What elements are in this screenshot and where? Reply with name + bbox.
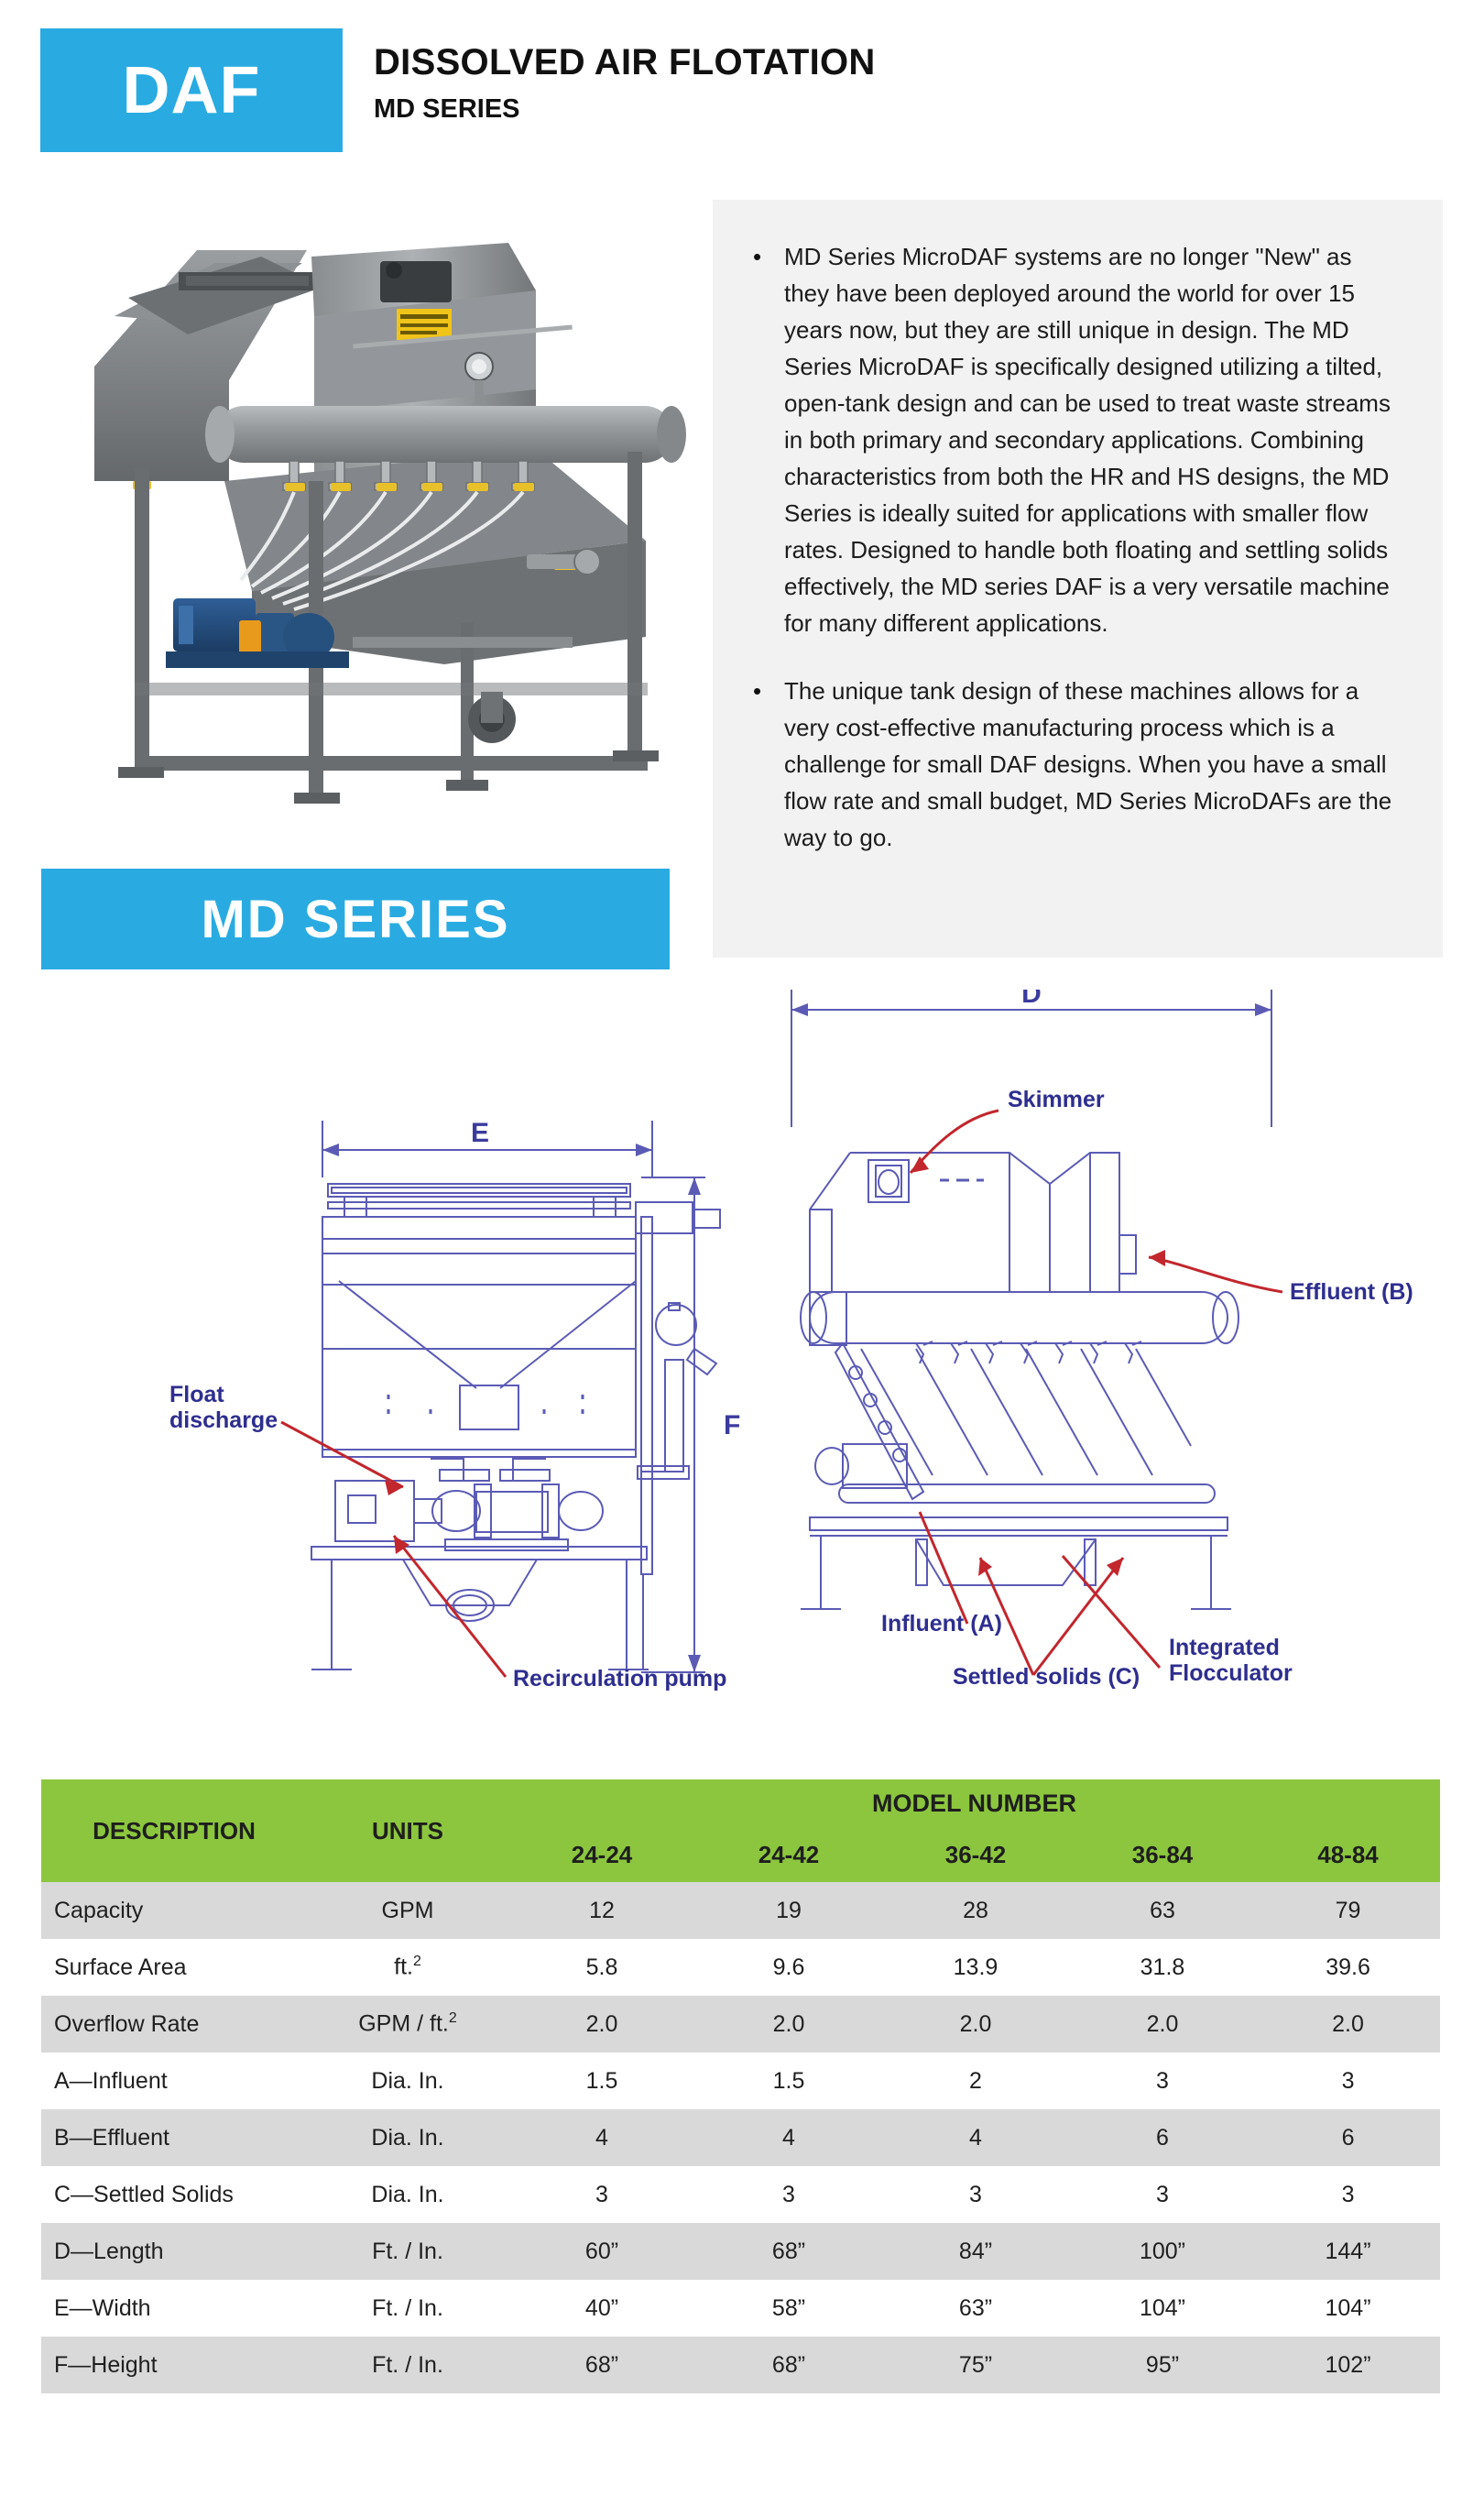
cell-value-model-0: 12 xyxy=(508,1882,695,1939)
col-header-model-4: 48-84 xyxy=(1256,1827,1440,1882)
cell-value-model-1: 19 xyxy=(695,1882,882,1939)
bullet-dot-icon: • xyxy=(753,673,784,856)
title-block: DISSOLVED AIR FLOTATION MD SERIES xyxy=(374,42,876,125)
table-row: F—HeightFt. / In.68”68”75”95”102” xyxy=(41,2337,1440,2393)
cell-units: ft.2 xyxy=(307,1939,508,1996)
dimension-F xyxy=(641,1177,705,1672)
dimension-label-F: F xyxy=(724,1410,740,1440)
cell-description: E—Width xyxy=(41,2280,307,2337)
bullet-item: • MD Series MicroDAF systems are no long… xyxy=(753,238,1402,641)
cell-value-model-2: 84” xyxy=(882,2223,1069,2280)
cell-value-model-1: 1.5 xyxy=(695,2053,882,2109)
cell-value-model-3: 3 xyxy=(1069,2166,1256,2223)
cell-value-model-0: 1.5 xyxy=(508,2053,695,2109)
callout-effluent: Effluent (B) xyxy=(1290,1279,1413,1305)
cell-description: F—Height xyxy=(41,2337,307,2393)
cell-value-model-4: 144” xyxy=(1256,2223,1440,2280)
cell-units: GPM / ft.2 xyxy=(307,1996,508,2053)
cell-value-model-2: 2.0 xyxy=(882,1996,1069,2053)
table-head: DESCRIPTION UNITS MODEL NUMBER 24-24 24-… xyxy=(41,1779,1440,1882)
table-row: CapacityGPM1219286379 xyxy=(41,1882,1440,1939)
cell-units: Ft. / In. xyxy=(307,2280,508,2337)
cell-value-model-3: 100” xyxy=(1069,2223,1256,2280)
page-title: DISSOLVED AIR FLOTATION xyxy=(374,42,876,83)
page-subtitle: MD SERIES xyxy=(374,94,876,125)
md-series-banner: MD SERIES xyxy=(41,869,670,969)
cell-description: C—Settled Solids xyxy=(41,2166,307,2223)
cell-value-model-2: 4 xyxy=(882,2109,1069,2166)
product-photo xyxy=(78,206,710,825)
cell-value-model-2: 28 xyxy=(882,1882,1069,1939)
bullet-dot-icon: • xyxy=(753,238,784,641)
col-header-model-1: 24-42 xyxy=(695,1827,882,1882)
cell-value-model-1: 58” xyxy=(695,2280,882,2337)
table-row: Surface Areaft.25.89.613.931.839.6 xyxy=(41,1939,1440,1996)
cell-value-model-1: 2.0 xyxy=(695,1996,882,2053)
callout-settled-solids: Settled solids (C) xyxy=(953,1664,1140,1690)
dimension-label-E: E xyxy=(471,1118,489,1148)
cell-value-model-1: 3 xyxy=(695,2166,882,2223)
drawings-svg: E F D Float discharge Recirculation pump… xyxy=(0,990,1484,1759)
cell-value-model-2: 2 xyxy=(882,2053,1069,2109)
description-panel: • MD Series MicroDAF systems are no long… xyxy=(713,200,1443,958)
cell-units: Ft. / In. xyxy=(307,2337,508,2393)
cell-description: B—Effluent xyxy=(41,2109,307,2166)
cell-description: A—Influent xyxy=(41,2053,307,2109)
col-header-units: UNITS xyxy=(307,1779,508,1882)
cell-value-model-1: 4 xyxy=(695,2109,882,2166)
daf-logo-badge: DAF xyxy=(40,28,343,152)
callout-skimmer: Skimmer xyxy=(1008,1087,1105,1112)
cell-value-model-4: 3 xyxy=(1256,2166,1440,2223)
cell-value-model-1: 9.6 xyxy=(695,1939,882,1996)
table-header-row-top: DESCRIPTION UNITS MODEL NUMBER xyxy=(41,1779,1440,1827)
cell-value-model-2: 75” xyxy=(882,2337,1069,2393)
callout-float-discharge-line2: discharge xyxy=(169,1407,278,1433)
daf-logo-text: DAF xyxy=(123,53,261,128)
cell-description: D—Length xyxy=(41,2223,307,2280)
product-photo-image xyxy=(78,206,710,825)
callout-float-discharge-line1: Float xyxy=(169,1382,224,1407)
cell-description: Surface Area xyxy=(41,1939,307,1996)
md-series-banner-label: MD SERIES xyxy=(201,889,509,950)
effluent-leader xyxy=(1149,1257,1282,1292)
col-header-model-2: 36-42 xyxy=(882,1827,1069,1882)
cell-value-model-4: 104” xyxy=(1256,2280,1440,2337)
callout-recirculation-pump: Recirculation pump xyxy=(513,1666,726,1691)
cell-value-model-4: 6 xyxy=(1256,2109,1440,2166)
table-row: Overflow RateGPM / ft.22.02.02.02.02.0 xyxy=(41,1996,1440,2053)
col-header-model-3: 36-84 xyxy=(1069,1827,1256,1882)
cell-value-model-0: 68” xyxy=(508,2337,695,2393)
cell-value-model-4: 3 xyxy=(1256,2053,1440,2109)
cell-value-model-2: 13.9 xyxy=(882,1939,1069,1996)
cell-value-model-0: 60” xyxy=(508,2223,695,2280)
cell-units: Dia. In. xyxy=(307,2109,508,2166)
callout-flocculator-line1: Integrated xyxy=(1169,1635,1280,1660)
cell-value-model-3: 104” xyxy=(1069,2280,1256,2337)
cell-units: Dia. In. xyxy=(307,2053,508,2109)
cell-value-model-3: 6 xyxy=(1069,2109,1256,2166)
bullet-item: • The unique tank design of these machin… xyxy=(753,673,1402,856)
table-row: A—InfluentDia. In.1.51.5233 xyxy=(41,2053,1440,2109)
table-body: CapacityGPM1219286379Surface Areaft.25.8… xyxy=(41,1882,1440,2393)
cell-value-model-2: 3 xyxy=(882,2166,1069,2223)
page-header: DAF DISSOLVED AIR FLOTATION MD SERIES xyxy=(0,0,1484,183)
col-header-description: DESCRIPTION xyxy=(41,1779,307,1882)
cell-value-model-0: 3 xyxy=(508,2166,695,2223)
col-header-model-number: MODEL NUMBER xyxy=(508,1779,1440,1827)
cell-value-model-3: 63 xyxy=(1069,1882,1256,1939)
cell-value-model-0: 2.0 xyxy=(508,1996,695,2053)
cell-units: GPM xyxy=(307,1882,508,1939)
cell-value-model-0: 4 xyxy=(508,2109,695,2166)
cell-value-model-3: 2.0 xyxy=(1069,1996,1256,2053)
cell-value-model-4: 2.0 xyxy=(1256,1996,1440,2053)
table-row: D—LengthFt. / In.60”68”84”100”144” xyxy=(41,2223,1440,2280)
table-row: E—WidthFt. / In.40”58”63”104”104” xyxy=(41,2280,1440,2337)
cell-value-model-4: 39.6 xyxy=(1256,1939,1440,1996)
cell-value-model-1: 68” xyxy=(695,2337,882,2393)
cell-value-model-3: 3 xyxy=(1069,2053,1256,2109)
cell-units: Dia. In. xyxy=(307,2166,508,2223)
callout-influent: Influent (A) xyxy=(881,1611,1002,1637)
specifications-table: DESCRIPTION UNITS MODEL NUMBER 24-24 24-… xyxy=(41,1779,1440,2393)
col-header-model-0: 24-24 xyxy=(508,1827,695,1882)
cell-value-model-3: 31.8 xyxy=(1069,1939,1256,1996)
bullet-text: MD Series MicroDAF systems are no longer… xyxy=(784,238,1402,641)
cell-value-model-2: 63” xyxy=(882,2280,1069,2337)
cell-value-model-0: 40” xyxy=(508,2280,695,2337)
cell-description: Overflow Rate xyxy=(41,1996,307,2053)
cell-value-model-1: 68” xyxy=(695,2223,882,2280)
table-row: C—Settled SolidsDia. In.33333 xyxy=(41,2166,1440,2223)
bullet-text: The unique tank design of these machines… xyxy=(784,673,1402,856)
cell-value-model-3: 95” xyxy=(1069,2337,1256,2393)
cell-description: Capacity xyxy=(41,1882,307,1939)
cell-value-model-4: 79 xyxy=(1256,1882,1440,1939)
datasheet-page: DAF DISSOLVED AIR FLOTATION MD SERIES xyxy=(0,0,1484,2496)
technical-drawings: E F D Float discharge Recirculation pump… xyxy=(0,990,1484,1759)
cell-value-model-0: 5.8 xyxy=(508,1939,695,1996)
cell-units: Ft. / In. xyxy=(307,2223,508,2280)
float-discharge-leader xyxy=(281,1422,403,1487)
cell-value-model-4: 102” xyxy=(1256,2337,1440,2393)
callout-flocculator-line2: Flocculator xyxy=(1169,1660,1293,1686)
dimension-label-D: D xyxy=(1021,990,1042,1009)
table-row: B—EffluentDia. In.44466 xyxy=(41,2109,1440,2166)
